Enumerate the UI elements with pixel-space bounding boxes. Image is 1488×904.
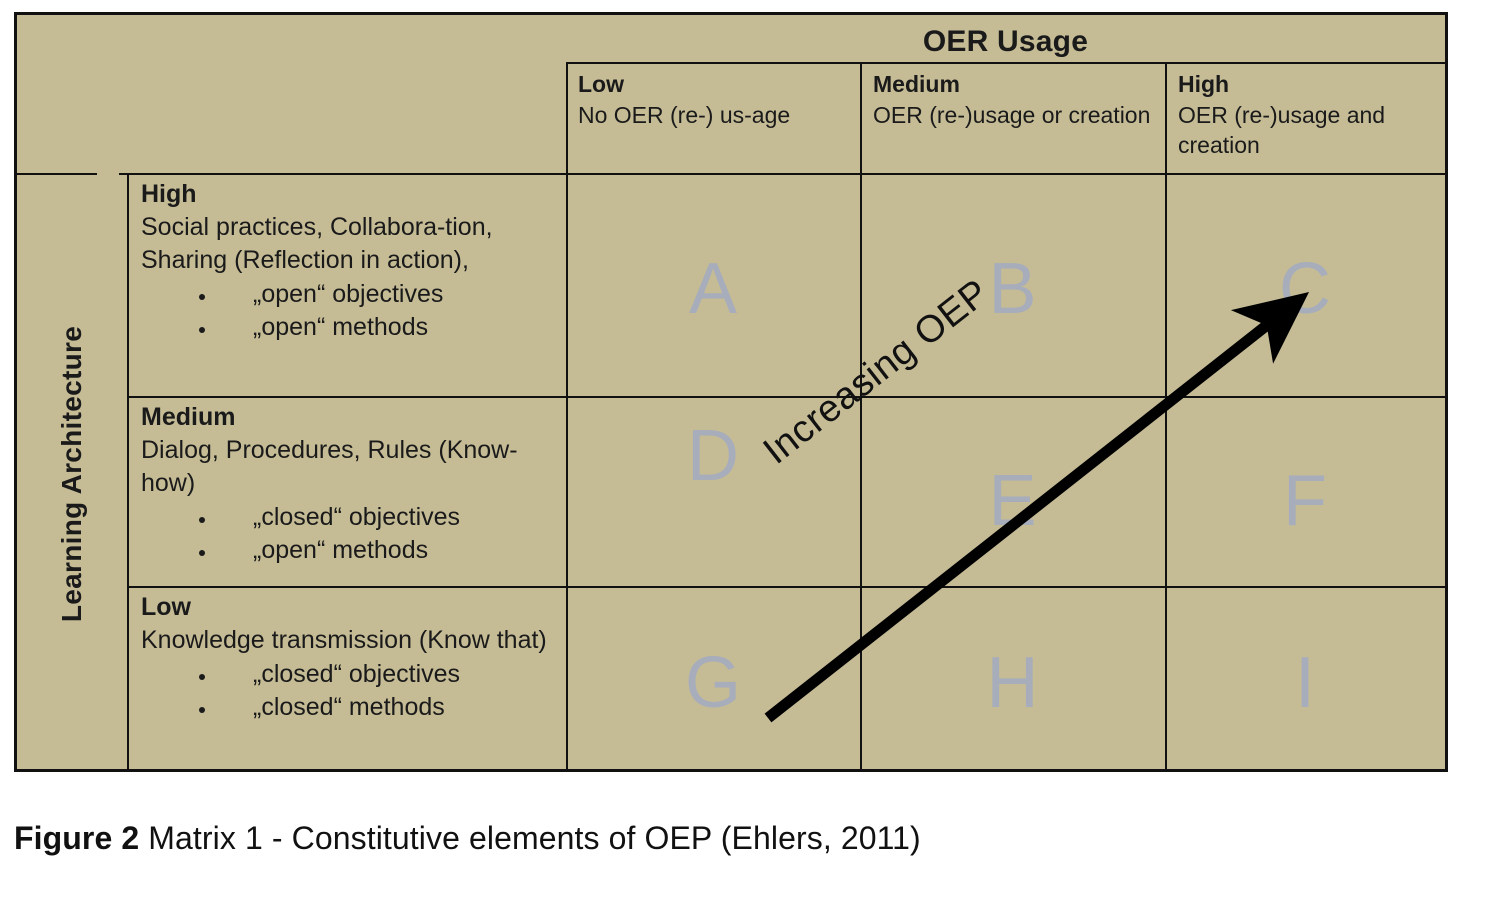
- list-item: „closed“ objectives: [217, 501, 561, 534]
- list-item: „open“ methods: [217, 311, 561, 344]
- column-header-low-level: Low: [578, 69, 850, 100]
- column-header-medium-description: OER (re-)usage or creation: [873, 102, 1150, 128]
- row-header-medium-description: Dialog, Procedures, Rules (Know-how): [141, 436, 518, 497]
- column-header-high: High OER (re-)usage and creation: [1178, 69, 1438, 161]
- row-header-high-bullets: „open“ objectives „open“ methods: [141, 278, 561, 344]
- row-header-medium-bullets: „closed“ objectives „open“ methods: [141, 501, 561, 567]
- column-axis-title: OER Usage: [566, 25, 1445, 59]
- list-item: „closed“ objectives: [217, 658, 561, 691]
- figure-caption-label: Figure 2: [14, 820, 139, 856]
- column-header-low: Low No OER (re-) us-age: [578, 69, 850, 130]
- row-header-high-description: Social practices, Collabora-tion, Sharin…: [141, 213, 493, 274]
- matrix-cell-B: B: [860, 253, 1165, 325]
- column-header-low-description: No OER (re-) us-age: [578, 102, 790, 128]
- matrix-cell-I: I: [1165, 647, 1445, 719]
- figure-caption-text: Matrix 1 - Constitutive elements of OEP …: [139, 820, 921, 856]
- list-item: „open“ objectives: [217, 278, 561, 311]
- row-axis-title-text: Learning Architecture: [56, 326, 88, 622]
- matrix-cell-F: F: [1165, 465, 1445, 537]
- grid-line-axis-column: [127, 173, 129, 769]
- matrix-cell-G: G: [566, 647, 860, 719]
- column-header-medium-level: Medium: [873, 69, 1157, 100]
- column-header-high-description: OER (re-)usage and creation: [1178, 102, 1385, 159]
- figure-caption: Figure 2 Matrix 1 - Constitutive element…: [14, 820, 921, 857]
- matrix-cell-A: A: [566, 253, 860, 325]
- grid-line-row-2-3: [127, 586, 1445, 588]
- row-header-low: Low Knowledge transmission (Know that) „…: [141, 591, 561, 724]
- matrix-cell-E: E: [860, 465, 1165, 537]
- list-item: „closed“ methods: [217, 691, 561, 724]
- matrix-cell-H: H: [860, 647, 1165, 719]
- column-header-high-level: High: [1178, 69, 1438, 100]
- row-header-low-description: Knowledge transmission (Know that): [141, 626, 547, 654]
- row-header-high: High Social practices, Collabora-tion, S…: [141, 178, 561, 344]
- column-header-medium: Medium OER (re-)usage or creation: [873, 69, 1157, 130]
- row-header-high-level: High: [141, 178, 561, 211]
- row-header-medium-level: Medium: [141, 401, 561, 434]
- row-header-low-level: Low: [141, 591, 561, 624]
- grid-line-header-title: [566, 62, 1445, 64]
- grid-line-row-1-2: [127, 396, 1445, 398]
- grid-line-columnheader-right: [119, 173, 1445, 175]
- row-header-low-bullets: „closed“ objectives „closed“ methods: [141, 658, 561, 724]
- figure-2-container: OER Usage Low No OER (re-) us-age Medium…: [0, 0, 1488, 904]
- matrix-cell-C: C: [1165, 253, 1445, 325]
- list-item: „open“ methods: [217, 534, 561, 567]
- oep-matrix-table: OER Usage Low No OER (re-) us-age Medium…: [14, 12, 1448, 772]
- row-header-medium: Medium Dialog, Procedures, Rules (Know-h…: [141, 401, 561, 567]
- row-axis-title: Learning Architecture: [17, 175, 127, 773]
